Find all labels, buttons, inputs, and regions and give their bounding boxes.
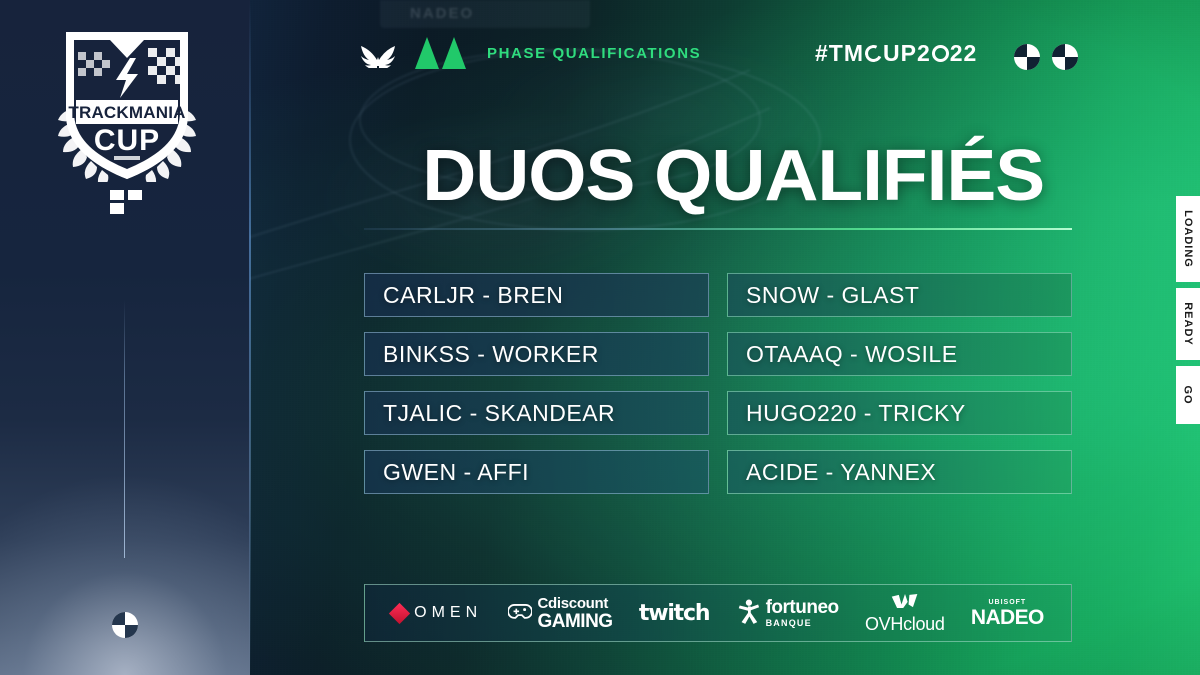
double-chevron-icon	[415, 37, 475, 69]
sponsor-cdiscount-line2: GAMING	[537, 612, 612, 631]
duo-card[interactable]: HUGO220 - TRICKY	[727, 391, 1072, 435]
duo-card[interactable]: GWEN - AFFI	[364, 450, 709, 494]
fortuneo-figure-icon	[736, 597, 760, 630]
tetromino-icon	[110, 190, 144, 214]
duo-row: TJALIC - SKANDEAR HUGO220 - TRICKY	[364, 391, 1072, 435]
sponsor-omen-label: OMEN	[414, 604, 482, 622]
duo-card[interactable]: ACIDE - YANNEX	[727, 450, 1072, 494]
event-hashtag: #TMUP222	[815, 40, 977, 67]
duo-card[interactable]: OTAAAQ - WOSILE	[727, 332, 1072, 376]
ovh-logo-icon	[890, 593, 920, 613]
hashtag-o-glyph	[932, 45, 949, 62]
hashtag-suffix: 22	[950, 40, 978, 66]
hashtag-prefix: #TM	[815, 40, 864, 66]
sponsor-nadeo-line2: NADEO	[971, 607, 1044, 628]
rail-ready-item: READY	[1176, 288, 1200, 360]
checkered-circle-icon	[112, 612, 138, 638]
rail-ready-label: READY	[1182, 302, 1194, 346]
qualified-duos-list: CARLJR - BREN SNOW - GLAST BINKSS - WORK…	[364, 273, 1072, 509]
checkered-circle-icon	[1014, 44, 1040, 70]
page-title: DUOS QUALIFIÉS	[364, 140, 1102, 212]
phase-label: PHASE QUALIFICATIONS	[487, 45, 701, 62]
svg-text:TRACKMANIA: TRACKMANIA	[68, 103, 185, 122]
rail-loading-item: LOADING	[1176, 196, 1200, 282]
duo-card[interactable]: SNOW - GLAST	[727, 273, 1072, 317]
sponsor-twitch: twitch	[639, 601, 709, 626]
wings-icon	[358, 38, 398, 68]
hashtag-mid: UP2	[883, 40, 931, 66]
duo-row: CARLJR - BREN SNOW - GLAST	[364, 273, 1072, 317]
sponsor-nadeo-line1: UBISOFT	[988, 599, 1026, 606]
right-status-rail: LOADING READY GO	[1176, 196, 1200, 430]
sponsor-ovhcloud-label: OVHcloud	[865, 615, 945, 633]
rail-go-label: GO	[1182, 385, 1194, 404]
sponsor-bar: OMEN Cdiscount GAMING twitch	[364, 584, 1072, 642]
sponsor-omen: OMEN	[392, 604, 482, 622]
title-underline	[364, 228, 1072, 230]
sidebar-edge-highlight	[249, 0, 251, 675]
sponsor-cdiscount: Cdiscount GAMING	[508, 596, 612, 631]
rail-go-item: GO	[1176, 366, 1200, 424]
gamepad-icon	[508, 601, 532, 625]
duo-card[interactable]: TJALIC - SKANDEAR	[364, 391, 709, 435]
broadcast-overlay: NADEO	[0, 0, 1200, 675]
top-bar: PHASE QUALIFICATIONS #TMUP222	[0, 0, 1200, 100]
rail-loading-label: LOADING	[1182, 210, 1194, 268]
sponsor-fortuneo: fortuneo BANQUE	[736, 597, 839, 630]
sidebar-divider-line	[124, 300, 125, 558]
duo-row: BINKSS - WORKER OTAAAQ - WOSILE	[364, 332, 1072, 376]
sponsor-cdiscount-line1: Cdiscount	[537, 596, 612, 611]
omen-diamond-icon	[389, 602, 410, 623]
duo-card[interactable]: CARLJR - BREN	[364, 273, 709, 317]
hashtag-c-glyph	[863, 43, 885, 65]
sponsor-ovhcloud: OVHcloud	[865, 593, 945, 633]
sponsor-nadeo: UBISOFT NADEO	[971, 599, 1044, 628]
top-bar-icons	[1014, 44, 1078, 70]
duo-card[interactable]: BINKSS - WORKER	[364, 332, 709, 376]
svg-text:CUP: CUP	[94, 124, 160, 157]
duo-row: GWEN - AFFI ACIDE - YANNEX	[364, 450, 1072, 494]
checkered-circle-icon	[1052, 44, 1078, 70]
sponsor-fortuneo-line1: fortuneo	[766, 598, 839, 617]
sponsor-fortuneo-line2: BANQUE	[766, 619, 839, 628]
